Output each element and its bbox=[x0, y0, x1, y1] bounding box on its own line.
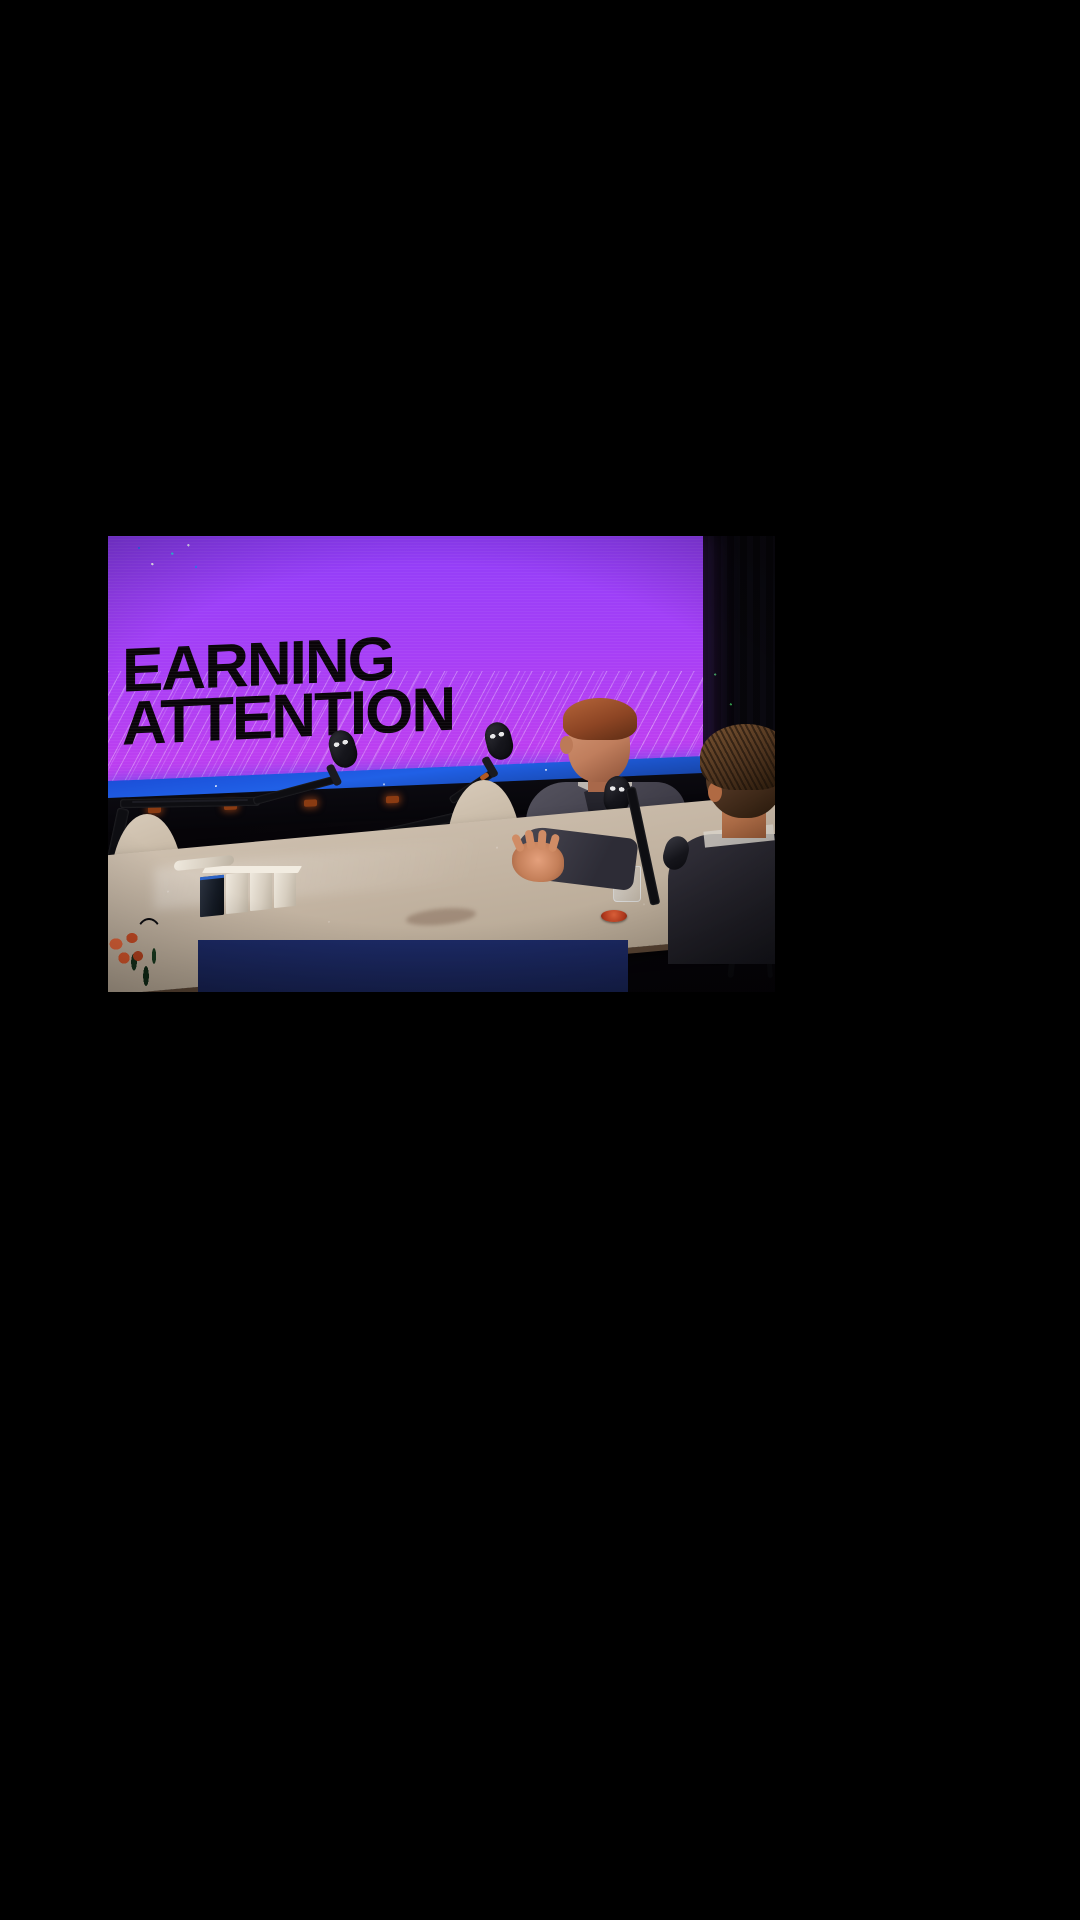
guest-ear bbox=[560, 736, 573, 754]
product-box-dark bbox=[200, 875, 224, 918]
product-box bbox=[226, 872, 248, 914]
stage-photograph: EARNING ATTENTION bbox=[108, 536, 775, 992]
small-dish bbox=[601, 910, 627, 922]
guest-hand bbox=[512, 842, 564, 882]
table-stain bbox=[406, 906, 476, 928]
finger bbox=[537, 830, 546, 851]
product-box-lids bbox=[202, 866, 302, 873]
product-box bbox=[250, 869, 272, 911]
mic-logo-icon bbox=[609, 784, 626, 793]
guest-hair bbox=[563, 698, 637, 740]
mic-logo-icon bbox=[333, 737, 350, 748]
lip-lamp bbox=[304, 799, 317, 807]
screenshot-canvas: EARNING ATTENTION bbox=[0, 0, 1080, 1920]
stage-floor bbox=[198, 940, 628, 992]
mic-logo-icon bbox=[489, 729, 506, 740]
led-dead-pixels bbox=[120, 541, 215, 576]
host-hair bbox=[700, 724, 775, 790]
lip-lamp bbox=[386, 796, 399, 804]
stage-cable bbox=[134, 918, 164, 966]
